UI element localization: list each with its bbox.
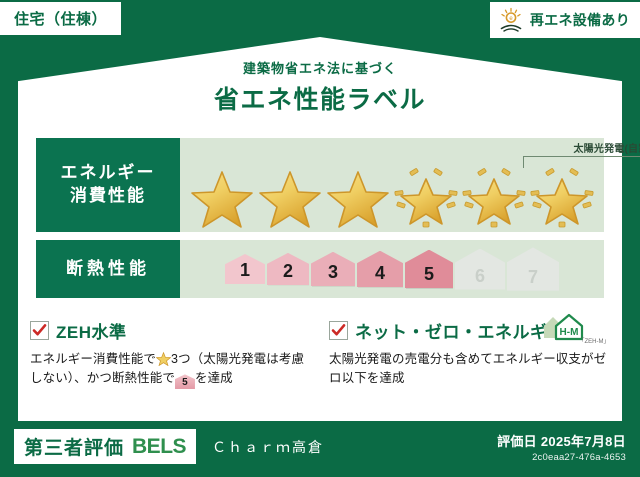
grade-number: 5 [424,264,434,285]
building-type-chip: 住宅（住棟） [0,2,121,35]
star-solar-sparkle [394,165,458,229]
star-rating [180,165,604,229]
building-type-text: 住宅（住棟） [14,11,107,28]
grade-number: 2 [283,261,293,282]
star-filled [258,165,322,229]
grade-number: 1 [240,260,250,281]
bels-en-text: BELS [132,435,186,459]
criterion-zeh-title: ZEH水準 [56,318,127,343]
grade-number: 4 [375,263,385,284]
svg-text:「ZEH-M」: 「ZEH-M」 [579,338,609,345]
insulation-grade: 5 [405,250,453,289]
criterion-zeh-body: エネルギー消費性能で3つ（太陽光発電は考慮しない）、かつ断熱性能で5を達成 [30,350,311,389]
label-title: 建築物省エネ法に基づく 省エネ性能ラベル [0,58,640,116]
solar-portion-bracket [523,156,640,168]
solar-portion-caption: 太陽光発電(自家消費)分 [523,140,640,155]
zeh-body-part3: を達成 [195,371,233,385]
svg-text:H-M: H-M [560,327,579,338]
grade-number: 7 [528,267,538,288]
zeh-m-logo: H-M 「ZEH-M」 [542,312,608,348]
criterion-zeh: ZEH水準 エネルギー消費性能で3つ（太陽光発電は考慮しない）、かつ断熱性能で5… [30,318,311,389]
grade-number: 3 [328,262,338,283]
bels-certification-box: 第三者評価 BELS [14,429,196,464]
insulation-grade-inactive: 7 [507,247,559,290]
star-filled [326,165,390,229]
evaluation-info: 評価日 2025年7月8日 2c0eaa27-476a-4653 [497,431,626,463]
energy-label-line1: エネルギー [61,162,156,185]
evaluation-date: 評価日 2025年7月8日 [497,431,626,450]
insulation-grade: 1 [225,254,265,284]
insulation-grade-inactive: 6 [455,249,505,290]
criterion-net-zero-title: ネット・ゼロ・エネルギー [355,318,565,343]
insulation-grade: 4 [357,251,403,288]
criterion-net-zero: ネット・ゼロ・エネルギー H-M 「ZEH-M」 太陽光発電の売電分も含めてエネ… [329,318,610,389]
checkbox-checked-icon [329,321,348,340]
energy-performance-label: 住宅（住棟） e 再エネ設備あり 建築物省エネ法に基づく 省エネ性能ラベル [0,0,640,477]
inline-grade-badge: 5 [175,374,195,389]
evaluation-id: 2c0eaa27-476a-4653 [497,452,626,463]
building-name: Ｃｈａｒｍ高倉 [212,437,324,457]
insulation-grade: 2 [267,253,309,285]
star-solar-sparkle [462,165,526,229]
title-main: 省エネ性能ラベル [0,80,640,116]
criterion-net-zero-body: 太陽光発電の売電分も含めてエネルギー収支がゼロ以下を達成 [329,350,610,389]
renewable-energy-chip: e 再エネ設備あり [490,2,640,38]
energy-consumption-row: エネルギー 消費性能 太陽光発電(自家消費)分 [36,138,604,232]
bels-jp-text: 第三者評価 [24,433,124,460]
criterion-zeh-head: ZEH水準 [30,318,311,343]
sun-icon: e [498,7,524,33]
insulation-value: 1 2 3 4 5 6 7 [180,240,604,298]
evaluation-date-value: 2025年7月8日 [541,434,626,449]
evaluation-date-label: 評価日 [497,434,537,449]
grade-number: 6 [475,266,485,287]
label-footer: 第三者評価 BELS Ｃｈａｒｍ高倉 評価日 2025年7月8日 2c0eaa2… [0,421,640,477]
insulation-label: 断熱性能 [36,240,180,298]
energy-label-line2: 消費性能 [70,185,146,208]
checkbox-checked-icon [30,321,49,340]
insulation-grade: 3 [311,252,355,286]
insulation-row: 断熱性能 1 2 3 4 5 6 7 [36,240,604,298]
title-subtitle: 建築物省エネ法に基づく [0,58,640,77]
renewable-badge-text: 再エネ設備あり [530,10,630,30]
star-solar-sparkle [530,165,594,229]
star-filled [190,165,254,229]
energy-consumption-value: 太陽光発電(自家消費)分 [180,138,604,232]
energy-consumption-label: エネルギー 消費性能 [36,138,180,232]
insulation-grade-scale: 1 2 3 4 5 6 7 [180,240,604,298]
star-icon [156,351,171,366]
criteria-section: ZEH水準 エネルギー消費性能で3つ（太陽光発電は考慮しない）、かつ断熱性能で5… [30,318,610,389]
insulation-label-text: 断熱性能 [66,258,150,281]
zeh-body-part1: エネルギー消費性能で [30,352,156,366]
